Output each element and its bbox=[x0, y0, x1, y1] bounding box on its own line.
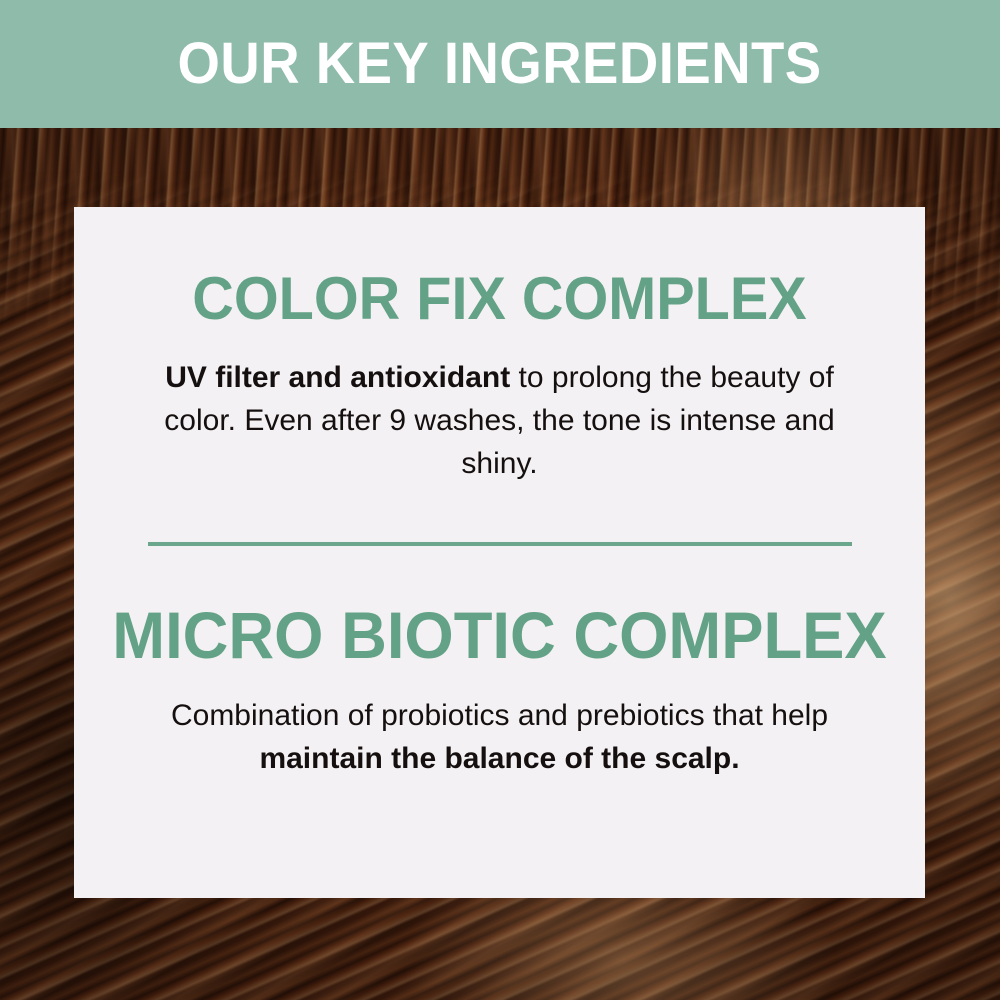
ingredients-card: COLOR FIX COMPLEX UV filter and antioxid… bbox=[74, 207, 925, 898]
ingredient-description-lead: Combination of probiotics and prebiotics… bbox=[171, 699, 828, 732]
ingredients-promo-image: OUR KEY INGREDIENTS COLOR FIX COMPLEX UV… bbox=[0, 0, 1000, 1000]
ingredient-block-color-fix-complex: COLOR FIX COMPLEX UV filter and antioxid… bbox=[74, 269, 925, 486]
section-divider-wrap bbox=[74, 542, 925, 546]
ingredient-description-micro-biotic-complex: Combination of probiotics and prebiotics… bbox=[150, 694, 850, 780]
ingredient-description-bold-trailing: maintain the balance of the scalp. bbox=[259, 742, 739, 775]
page-title: OUR KEY INGREDIENTS bbox=[178, 35, 822, 93]
section-divider bbox=[148, 542, 852, 546]
header-band: OUR KEY INGREDIENTS bbox=[0, 0, 1000, 128]
ingredient-title-micro-biotic-complex: MICRO BIOTIC COMPLEX bbox=[91, 602, 908, 668]
ingredient-description-color-fix-complex: UV filter and antioxidant to prolong the… bbox=[160, 356, 840, 486]
ingredient-block-micro-biotic-complex: MICRO BIOTIC COMPLEX Combination of prob… bbox=[74, 602, 925, 780]
ingredient-title-color-fix-complex: COLOR FIX COMPLEX bbox=[91, 269, 908, 329]
ingredient-description-bold-lead: UV filter and antioxidant bbox=[165, 361, 510, 394]
